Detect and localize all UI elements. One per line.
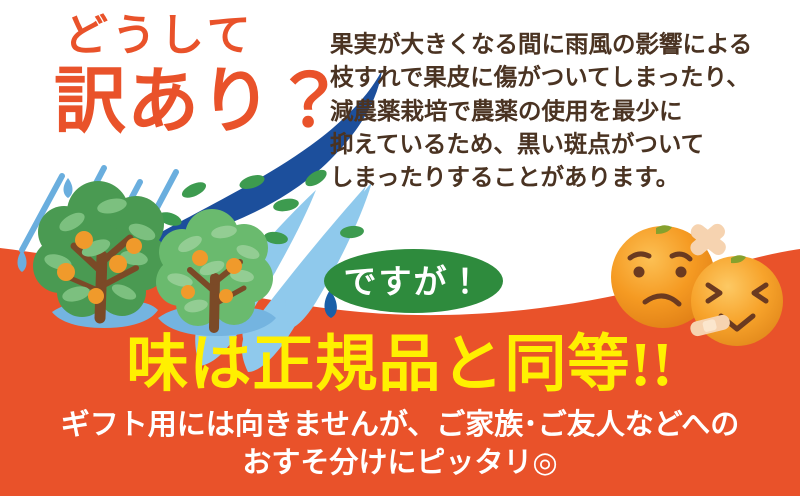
- body-copy-line: 果実が大きくなる間に雨風の影響による: [330, 28, 800, 61]
- sub-copy-line: おすそ分けにピッタリ◎: [0, 444, 800, 482]
- sub-copy: ギフト用には向きませんが、ご家族･ご友人などへの おすそ分けにピッタリ◎: [0, 406, 800, 483]
- but-badge: ですが！: [324, 249, 503, 313]
- sub-copy-line: ギフト用には向きませんが、ご家族･ご友人などへの: [0, 406, 800, 444]
- headline-kicker: どうして: [64, 14, 255, 58]
- body-copy-line: 減農薬栽培で農薬の使用を最少に: [330, 95, 800, 128]
- body-copy-line: しまったりすることがあります。: [330, 161, 800, 194]
- body-copy: 果実が大きくなる間に雨風の影響による 枝すれで果皮に傷がついてしまったり、 減農…: [330, 28, 800, 195]
- body-copy-line: 枝すれで果皮に傷がついてしまったり、: [330, 61, 800, 94]
- promotional-banner: どうして 訳あり？ 果実が大きくなる間に雨風の影響による 枝すれで果皮に傷がつい…: [0, 0, 800, 496]
- equal-quality-claim: 味は正規品と同等!!: [0, 334, 800, 396]
- headline-main: 訳あり？: [54, 66, 346, 138]
- body-copy-line: 抑えているため、黒い斑点がついて: [330, 128, 800, 161]
- badge-label: ですが！: [324, 249, 503, 313]
